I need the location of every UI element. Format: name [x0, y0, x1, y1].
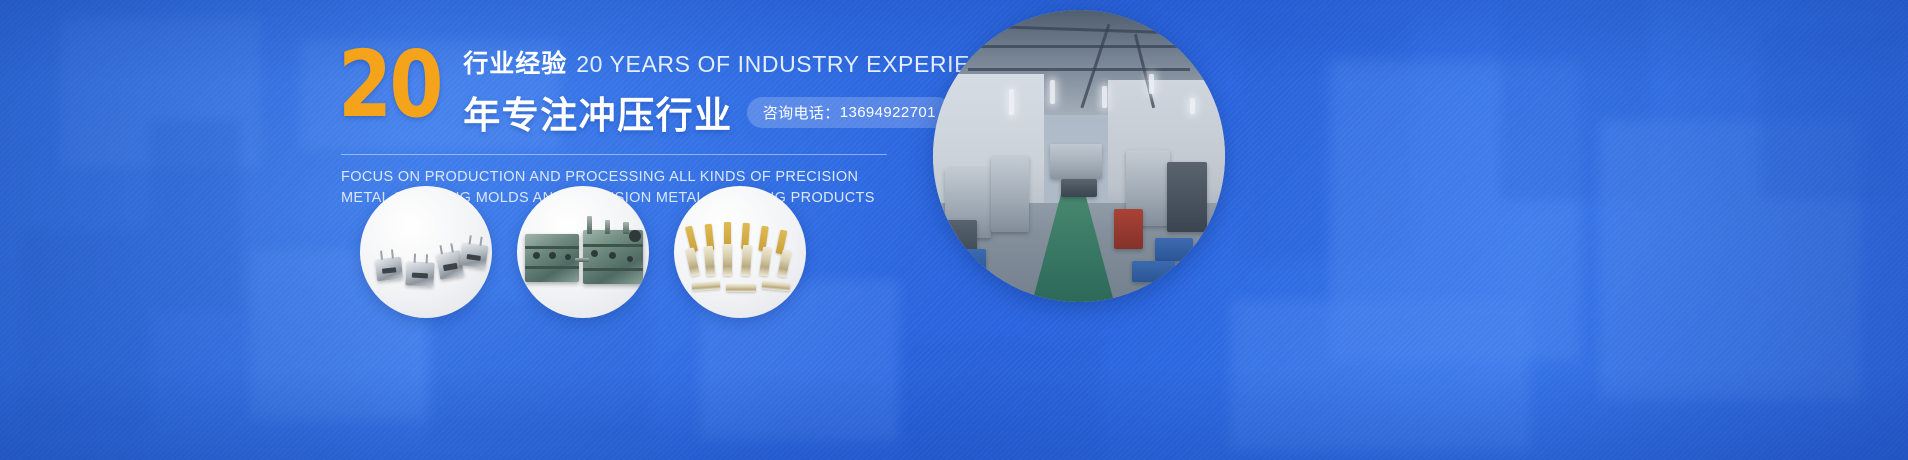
phone-number: 13694922701: [840, 104, 936, 121]
headline-cn-large: 年专注冲压行业: [463, 85, 733, 139]
product-circle-metal-usb-connectors[interactable]: [360, 186, 492, 318]
headline-cn-small: 行业经验: [463, 44, 567, 80]
product-circle-group: [360, 186, 806, 318]
years-number: 20: [338, 46, 441, 123]
phone-label: 咨询电话：: [763, 102, 840, 123]
phone-badge[interactable]: 咨询电话： 13694922701: [747, 97, 952, 128]
headline-block: 20 行业经验 20 YEARS OF INDUSTRY EXPERIENCE …: [338, 40, 898, 208]
headline-divider: [341, 154, 887, 155]
product-circle-brass-terminal-pins[interactable]: [674, 186, 806, 318]
headline-row: 20 行业经验 20 YEARS OF INDUSTRY EXPERIENCE …: [338, 40, 898, 139]
promo-banner: 20 行业经验 20 YEARS OF INDUSTRY EXPERIENCE …: [0, 0, 1908, 460]
product-circle-precision-stamping-mold[interactable]: [517, 186, 649, 318]
factory-workshop-photo[interactable]: [933, 10, 1225, 302]
